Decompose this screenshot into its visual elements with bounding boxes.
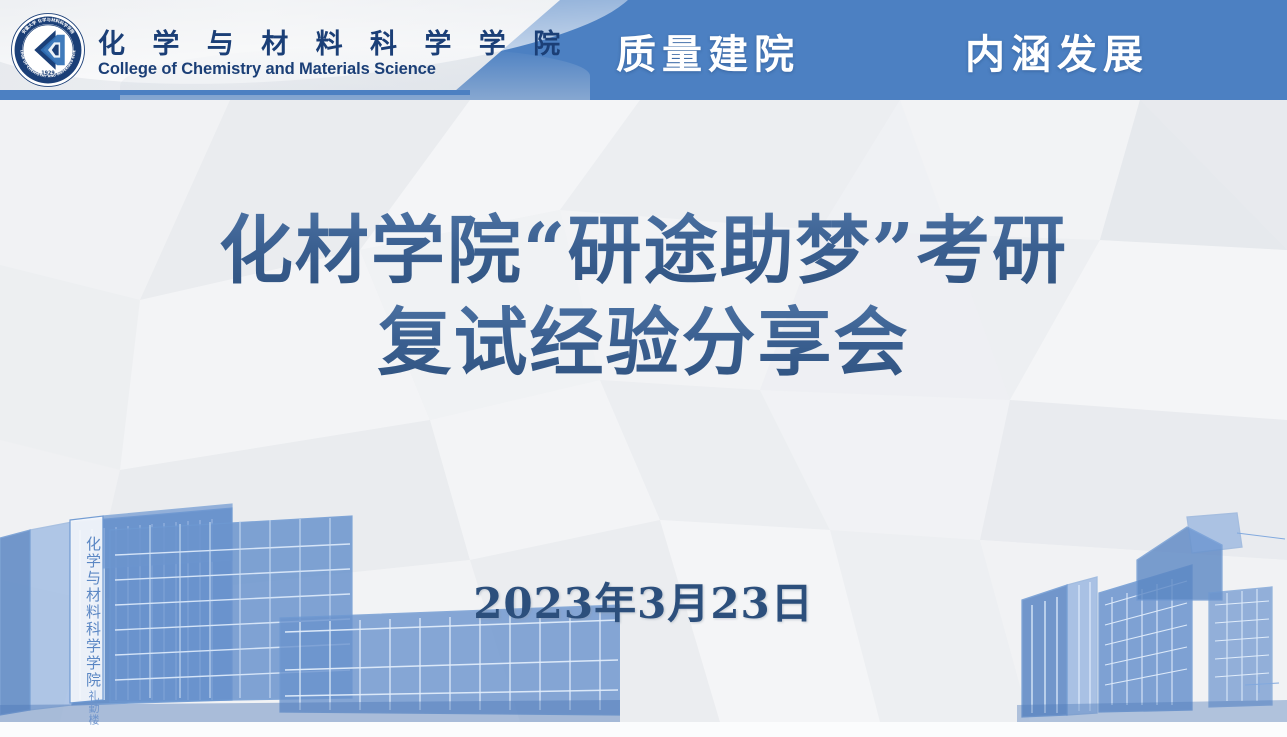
event-date: 2023年3月23日: [0, 570, 1287, 631]
slogan-left: 质量建院: [616, 22, 800, 80]
brand-name-english: College of Chemistry and Materials Scien…: [98, 60, 436, 79]
slide-header: 1929 安徽大学 化学与材料科学学院 COLLEGE OF CHEMISTRY…: [0, 0, 1287, 100]
presentation-slide: 化学与材料科学学院 礼勤楼: [0, 0, 1287, 737]
building-facade-subtext: 礼勤楼: [80, 690, 100, 726]
slogan-right: 内涵发展: [965, 22, 1149, 80]
brand-name-chinese: 化 学 与 材 料 科 学 学 院: [98, 22, 569, 61]
main-title-block: 化材学院“研途助梦”考研 化材学院“研途助梦”考研 复试经验分享会 复试经验分享…: [0, 205, 1287, 389]
title-line-2-wrap: 复试经验分享会 复试经验分享会: [0, 297, 1287, 389]
header-accent-underline: [0, 90, 470, 95]
title-line-2: 复试经验分享会: [0, 297, 1287, 389]
title-line-1: 化材学院“研途助梦”考研: [0, 205, 1287, 297]
bottom-strip: [0, 722, 1287, 737]
title-line-1-wrap: 化材学院“研途助梦”考研 化材学院“研途助梦”考研: [0, 205, 1287, 297]
college-emblem-icon: 1929 安徽大学 化学与材料科学学院 COLLEGE OF CHEMISTRY…: [10, 12, 86, 88]
